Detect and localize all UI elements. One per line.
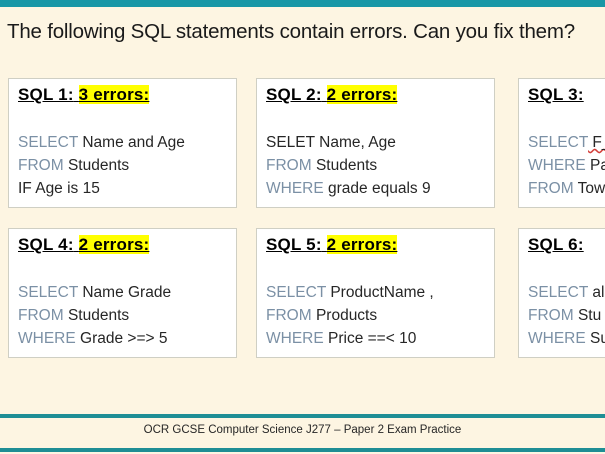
sql-keyword: WHERE (18, 330, 76, 347)
sql-line-text: Name Grade (78, 284, 171, 301)
footer-label: OCR GCSE Computer Science J277 – Paper 2… (0, 424, 605, 436)
sql-line-text: Pa (586, 157, 605, 174)
page-title: The following SQL statements contain err… (7, 20, 602, 44)
sql-keyword: WHERE (528, 157, 586, 174)
sql-line-text: Products (312, 307, 377, 324)
sql-card-heading: SQL 3: (528, 85, 584, 105)
sql-keyword: FROM (528, 307, 574, 324)
sql-statement-line: FROM Stu (528, 304, 605, 327)
sql-card-grid: SQL 1: 3 errors:SELECT Name and AgeFROM … (0, 76, 605, 386)
sql-card-1: SQL 1: 3 errors:SELECT Name and AgeFROM … (8, 78, 237, 208)
sql-keyword: SELECT (18, 134, 78, 151)
sql-line-text: grade equals 9 (324, 180, 431, 197)
sql-keyword: FROM (266, 157, 312, 174)
sql-card-3: SQL 3:SELECT F_WHERE PaFROM Tow (518, 78, 605, 208)
sql-line-text: SELET Name, Age (266, 134, 396, 151)
sql-statement-line: WHERE Su (528, 327, 605, 350)
sql-card-label: SQL 1: (18, 85, 74, 104)
sql-card-label: SQL 3: (528, 85, 584, 104)
sql-keyword: FROM (18, 157, 64, 174)
sql-line-text: all (588, 284, 605, 301)
sql-card-heading: SQL 2: 2 errors: (266, 85, 397, 105)
footer-divider-bottom (0, 448, 605, 452)
sql-statement-line: WHERE Grade >=> 5 (18, 327, 232, 350)
sql-card-error-count: 2 errors: (79, 235, 150, 254)
sql-card-body: SELECT ProductName ,FROM ProductsWHERE P… (266, 281, 490, 350)
sql-card-heading: SQL 5: 2 errors: (266, 235, 397, 255)
sql-statement-line: FROM Students (18, 304, 232, 327)
sql-keyword: SELECT (18, 284, 78, 301)
sql-statement-line: FROM Products (266, 304, 490, 327)
sql-statement-line: FROM Students (266, 154, 490, 177)
sql-statement-line: SELECT Name Grade (18, 281, 232, 304)
sql-card-body: SELET Name, AgeFROM StudentsWHERE grade … (266, 131, 490, 200)
sql-line-text: Students (64, 307, 130, 324)
sql-line-text: Students (312, 157, 378, 174)
sql-card-label: SQL 6: (528, 235, 584, 254)
sql-statement-line: WHERE Price ==< 10 (266, 327, 490, 350)
top-accent-bar (0, 0, 605, 7)
sql-card-error-count: 2 errors: (327, 235, 398, 254)
sql-line-text: ProductName , (326, 284, 434, 301)
sql-line-text: Grade >=> 5 (76, 330, 168, 347)
sql-statement-line: FROM Tow (528, 177, 605, 200)
sql-statement-line: WHERE grade equals 9 (266, 177, 490, 200)
sql-card-body: SELECT Name GradeFROM StudentsWHERE Grad… (18, 281, 232, 350)
sql-statement-line: SELECT ProductName , (266, 281, 490, 304)
sql-card-error-count: 2 errors: (327, 85, 398, 104)
footer-divider-top (0, 414, 605, 418)
sql-keyword: FROM (266, 307, 312, 324)
sql-statement-line: FROM Students (18, 154, 232, 177)
sql-card-heading: SQL 4: 2 errors: (18, 235, 149, 255)
sql-statement-line: WHERE Pa (528, 154, 605, 177)
sql-line-text: Su (586, 330, 605, 347)
sql-keyword: SELECT (266, 284, 326, 301)
sql-card-heading: SQL 1: 3 errors: (18, 85, 149, 105)
sql-keyword: FROM (528, 180, 574, 197)
sql-card-body: SELECT F_WHERE PaFROM Tow (528, 131, 605, 200)
sql-keyword: SELECT (528, 134, 588, 151)
sql-line-text: F_ (588, 134, 605, 151)
sql-card-heading: SQL 6: (528, 235, 584, 255)
sql-card-label: SQL 2: (266, 85, 322, 104)
sql-statement-line: IF Age is 15 (18, 177, 232, 200)
sql-card-5: SQL 5: 2 errors:SELECT ProductName ,FROM… (256, 228, 495, 358)
sql-line-text: Name and Age (78, 134, 185, 151)
sql-card-body: SELECT allFROM StuWHERE Su (528, 281, 605, 350)
sql-line-text: Students (64, 157, 130, 174)
sql-keyword: WHERE (528, 330, 586, 347)
sql-keyword: SELECT (528, 284, 588, 301)
sql-keyword: WHERE (266, 330, 324, 347)
sql-card-error-count: 3 errors: (79, 85, 150, 104)
sql-statement-line: SELECT F_ (528, 131, 605, 154)
sql-card-body: SELECT Name and AgeFROM StudentsIF Age i… (18, 131, 232, 200)
sql-statement-line: SELECT all (528, 281, 605, 304)
sql-card-label: SQL 5: (266, 235, 322, 254)
sql-line-text: Price ==< 10 (324, 330, 417, 347)
sql-keyword: FROM (18, 307, 64, 324)
sql-card-label: SQL 4: (18, 235, 74, 254)
sql-statement-line: SELECT Name and Age (18, 131, 232, 154)
sql-card-2: SQL 2: 2 errors:SELET Name, AgeFROM Stud… (256, 78, 495, 208)
sql-line-text: IF Age is 15 (18, 180, 100, 197)
sql-card-4: SQL 4: 2 errors:SELECT Name GradeFROM St… (8, 228, 237, 358)
sql-statement-line: SELET Name, Age (266, 131, 490, 154)
sql-keyword: WHERE (266, 180, 324, 197)
sql-line-text: Tow (574, 180, 605, 197)
sql-line-text: Stu (574, 307, 602, 324)
sql-card-6: SQL 6:SELECT allFROM StuWHERE Su (518, 228, 605, 358)
